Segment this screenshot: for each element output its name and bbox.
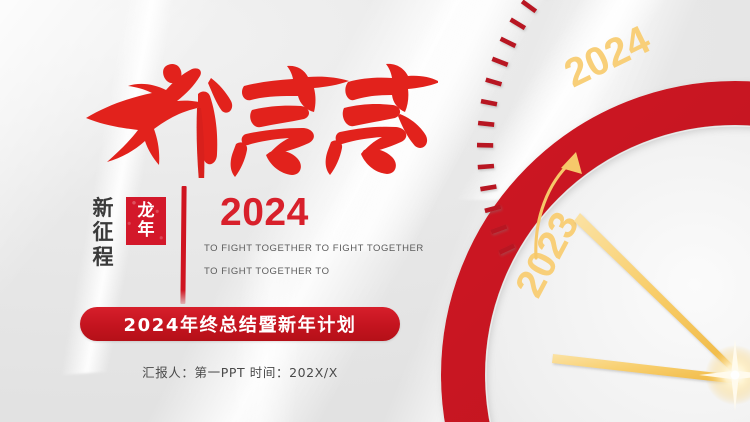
subject-banner-label: 2024年终总结暨新年计划	[124, 311, 357, 337]
dragon-year-seal: 龙 年	[126, 197, 166, 245]
subject-banner: 2024年终总结暨新年计划	[80, 307, 400, 341]
seal-char: 龙	[138, 202, 155, 221]
seal-char: 年	[138, 221, 155, 240]
english-tagline-line-1: TO FIGHT TOGETHER TO FIGHT TOGETHER	[204, 243, 424, 254]
year-label: 2024	[220, 191, 309, 235]
vertical-subtitle-char: 程	[86, 245, 120, 269]
red-divider-bar	[180, 186, 186, 304]
vertical-subtitle-char: 新	[86, 196, 120, 220]
arc-label-2024: 2024	[558, 17, 658, 96]
main-calligraphy-title	[48, 48, 438, 178]
slide-canvas: 2023 2024	[0, 0, 750, 422]
english-tagline-line-2: TO FIGHT TOGETHER TO	[204, 266, 330, 277]
clock-dial-graphic: 2023 2024	[430, 0, 750, 422]
vertical-subtitle-char: 征	[86, 220, 120, 244]
vertical-subtitle: 新 征 程	[86, 196, 120, 269]
presenter-line: 汇报人：第一PPT 时间：202X/X	[0, 362, 480, 381]
